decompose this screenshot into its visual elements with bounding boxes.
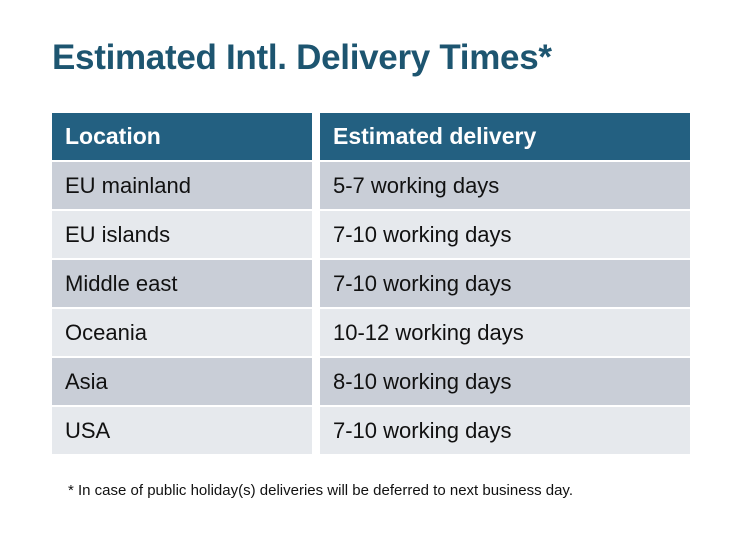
cell-estimated-delivery: 10-12 working days bbox=[320, 309, 690, 356]
footnote-text: * In case of public holiday(s) deliverie… bbox=[68, 481, 573, 501]
cell-location: USA bbox=[52, 407, 312, 454]
cell-location: EU mainland bbox=[52, 162, 312, 209]
cell-location: EU islands bbox=[52, 211, 312, 258]
table-row: EU islands 7-10 working days bbox=[52, 211, 690, 258]
table-row: Middle east 7-10 working days bbox=[52, 260, 690, 307]
cell-estimated-delivery: 5-7 working days bbox=[320, 162, 690, 209]
table-row: USA 7-10 working days bbox=[52, 407, 690, 454]
cell-estimated-delivery: 7-10 working days bbox=[320, 407, 690, 454]
cell-location: Asia bbox=[52, 358, 312, 405]
table-row: Asia 8-10 working days bbox=[52, 358, 690, 405]
cell-estimated-delivery: 7-10 working days bbox=[320, 211, 690, 258]
column-header-location: Location bbox=[52, 113, 312, 160]
cell-estimated-delivery: 8-10 working days bbox=[320, 358, 690, 405]
page-title: Estimated Intl. Delivery Times* bbox=[52, 36, 552, 80]
delivery-times-page: Estimated Intl. Delivery Times* Location… bbox=[0, 0, 745, 536]
delivery-times-table: Location Estimated delivery EU mainland … bbox=[52, 113, 690, 454]
cell-location: Oceania bbox=[52, 309, 312, 356]
table-row: EU mainland 5-7 working days bbox=[52, 162, 690, 209]
column-header-estimated-delivery: Estimated delivery bbox=[320, 113, 690, 160]
table-header-row: Location Estimated delivery bbox=[52, 113, 690, 160]
table-row: Oceania 10-12 working days bbox=[52, 309, 690, 356]
cell-estimated-delivery: 7-10 working days bbox=[320, 260, 690, 307]
cell-location: Middle east bbox=[52, 260, 312, 307]
